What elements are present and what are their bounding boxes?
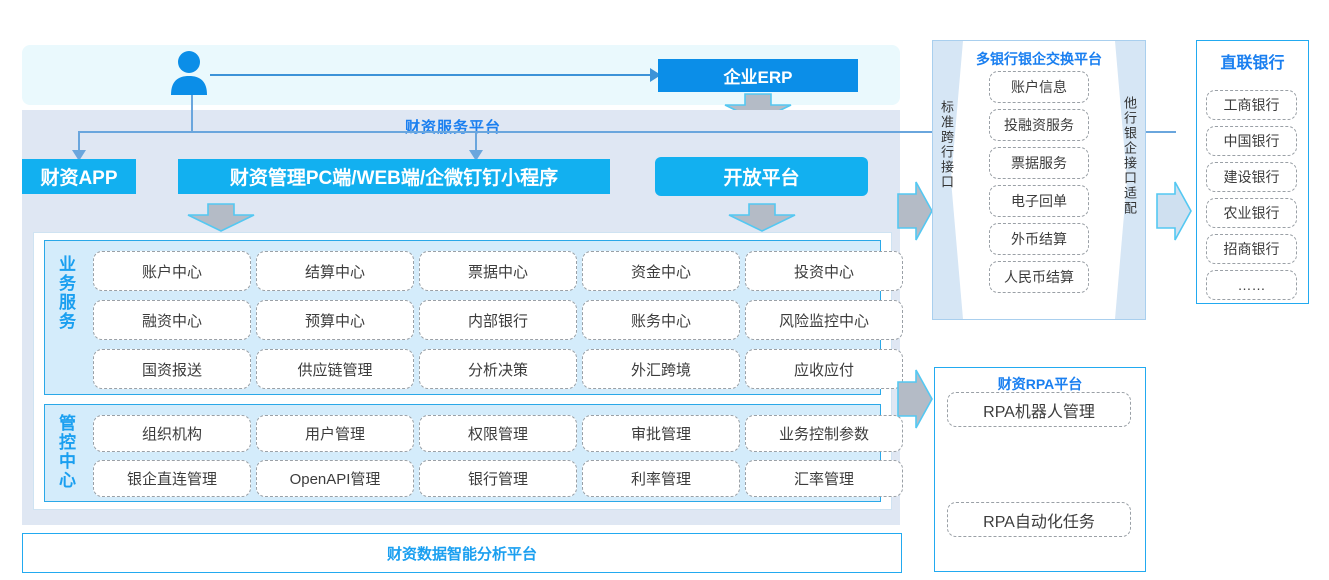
- rpa-automation-task-chip[interactable]: RPA自动化任务: [947, 502, 1131, 537]
- user-icon: [168, 49, 210, 95]
- bank-exchange-chip[interactable]: 外币结算: [989, 223, 1089, 255]
- bank-exchange-chip[interactable]: 票据服务: [989, 147, 1089, 179]
- management-center-chip[interactable]: 业务控制参数: [745, 415, 903, 452]
- bank-exchange-chip[interactable]: 人民币结算: [989, 261, 1089, 293]
- management-center-chip[interactable]: OpenAPI管理: [256, 460, 414, 497]
- business-service-chip[interactable]: 资金中心: [582, 251, 740, 291]
- business-service-chip[interactable]: 内部银行: [419, 300, 577, 340]
- management-center-chip[interactable]: 利率管理: [582, 460, 740, 497]
- management-center-chip[interactable]: 审批管理: [582, 415, 740, 452]
- other-bank-adapter-label: 他行银企接口适配: [1121, 96, 1136, 216]
- standard-interface-label: 标准跨行接口: [938, 100, 953, 190]
- business-service-chip[interactable]: 应收应付: [745, 349, 903, 389]
- business-service-chip[interactable]: 票据中心: [419, 251, 577, 291]
- direct-bank-list: 工商银行中国银行建设银行农业银行招商银行……: [1206, 90, 1297, 300]
- business-service-chip[interactable]: 分析决策: [419, 349, 577, 389]
- management-center-chip[interactable]: 组织机构: [93, 415, 251, 452]
- management-center-chip[interactable]: 银行管理: [419, 460, 577, 497]
- management-center-chip[interactable]: 用户管理: [256, 415, 414, 452]
- business-service-chip[interactable]: 结算中心: [256, 251, 414, 291]
- direct-bank-chip[interactable]: 农业银行: [1206, 198, 1297, 228]
- business-service-chip[interactable]: 国资报送: [93, 349, 251, 389]
- business-service-chip[interactable]: 供应链管理: [256, 349, 414, 389]
- direct-bank-chip[interactable]: 中国银行: [1206, 126, 1297, 156]
- direct-bank-title: 直联银行: [1197, 49, 1308, 73]
- pc-down-arrow-icon: [186, 202, 256, 232]
- bank-exchange-panel: 多银行银企交换平台 账户信息投融资服务票据服务电子回单外币结算人民币结算: [932, 40, 1146, 320]
- direct-bank-chip[interactable]: 建设银行: [1206, 162, 1297, 192]
- arrow-to-direct-bank-icon: [1155, 180, 1193, 242]
- bank-exchange-chip[interactable]: 投融资服务: [989, 109, 1089, 141]
- management-center-grid: 组织机构用户管理权限管理审批管理业务控制参数银企直连管理OpenAPI管理银行管…: [93, 415, 903, 497]
- direct-bank-chip[interactable]: 招商银行: [1206, 234, 1297, 264]
- treasury-app-box[interactable]: 财资APP: [22, 159, 136, 194]
- business-service-chip[interactable]: 外汇跨境: [582, 349, 740, 389]
- business-service-chip[interactable]: 投资中心: [745, 251, 903, 291]
- bank-exchange-title: 多银行银企交换平台: [933, 49, 1145, 69]
- direct-bank-chip[interactable]: ……: [1206, 270, 1297, 300]
- business-service-chip[interactable]: 账务中心: [582, 300, 740, 340]
- business-service-chip[interactable]: 预算中心: [256, 300, 414, 340]
- management-center-chip[interactable]: 权限管理: [419, 415, 577, 452]
- business-service-chip[interactable]: 融资中心: [93, 300, 251, 340]
- arrow-to-rpa-icon: [896, 368, 934, 430]
- management-center-chip[interactable]: 银企直连管理: [93, 460, 251, 497]
- business-services-grid: 账户中心结算中心票据中心资金中心投资中心融资中心预算中心内部银行账务中心风险监控…: [93, 251, 903, 389]
- user-connector-vertical: [191, 95, 193, 132]
- bank-exchange-chip[interactable]: 电子回单: [989, 185, 1089, 217]
- treasury-pc-web-box[interactable]: 财资管理PC端/WEB端/企微钉钉小程序: [178, 159, 610, 194]
- rpa-robot-management-chip[interactable]: RPA机器人管理: [947, 392, 1131, 427]
- user-to-erp-line: [210, 74, 658, 76]
- business-service-chip[interactable]: 风险监控中心: [745, 300, 903, 340]
- business-services-label: 业务服务: [57, 255, 74, 331]
- data-analysis-platform-bar[interactable]: 财资数据智能分析平台: [22, 533, 902, 573]
- open-platform-down-arrow-icon: [727, 202, 797, 232]
- bank-exchange-chip[interactable]: 账户信息: [989, 71, 1089, 103]
- bank-exchange-list: 账户信息投融资服务票据服务电子回单外币结算人民币结算: [989, 71, 1089, 293]
- open-platform-box[interactable]: 开放平台: [655, 157, 868, 196]
- erp-box[interactable]: 企业ERP: [658, 59, 858, 92]
- management-center-chip[interactable]: 汇率管理: [745, 460, 903, 497]
- management-center-label: 管控中心: [57, 414, 74, 490]
- business-service-chip[interactable]: 账户中心: [93, 251, 251, 291]
- rpa-platform-title: 财资RPA平台: [935, 374, 1145, 394]
- platform-title: 财资服务平台: [405, 116, 501, 137]
- arrow-to-bank-exchange-icon: [896, 180, 934, 242]
- direct-bank-chip[interactable]: 工商银行: [1206, 90, 1297, 120]
